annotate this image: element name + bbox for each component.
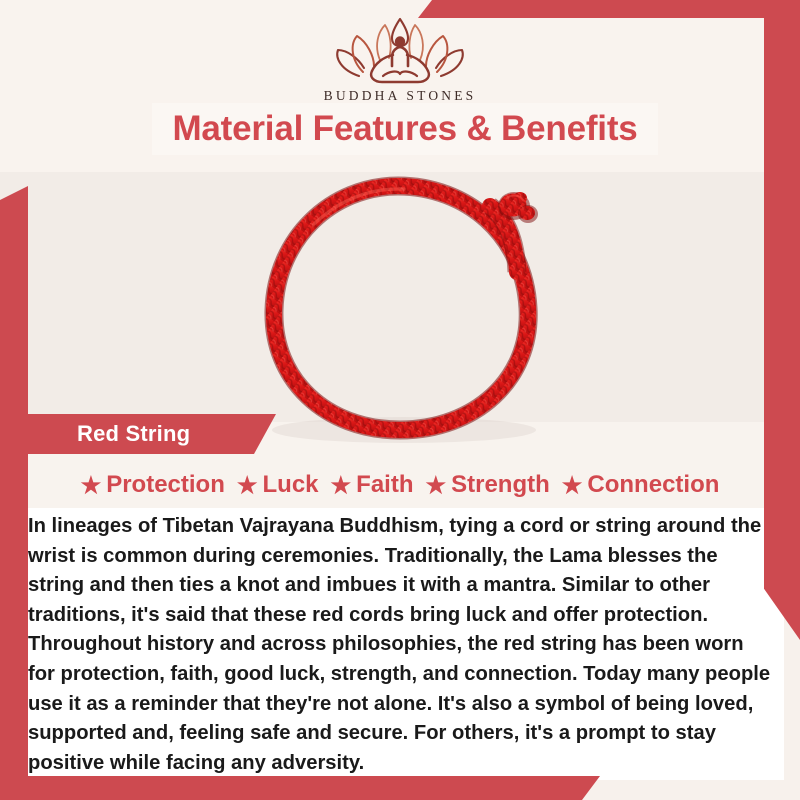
star-icon: ★ bbox=[331, 474, 352, 497]
product-label-ribbon: Red String bbox=[24, 414, 276, 454]
benefit-label: Strength bbox=[451, 471, 550, 499]
description-paragraph: In lineages of Tibetan Vajrayana Buddhis… bbox=[28, 512, 774, 778]
benefit-label: Connection bbox=[587, 471, 719, 499]
benefit-item-protection: ★ Protection bbox=[81, 471, 225, 499]
product-label-text: Red String bbox=[77, 421, 190, 447]
lotus-meditation-figure-icon bbox=[325, 14, 475, 86]
brand-logo: BUDDHA STONES bbox=[0, 14, 800, 104]
benefit-item-faith: ★ Faith bbox=[331, 471, 414, 499]
poster-canvas: BUDDHA STONES Material Features & Benefi… bbox=[0, 0, 800, 800]
brand-name: BUDDHA STONES bbox=[324, 88, 477, 104]
product-image-red-string-bracelet bbox=[228, 168, 576, 456]
frame-stripe-left bbox=[0, 186, 28, 800]
frame-stripe-bottom bbox=[0, 776, 600, 800]
star-icon: ★ bbox=[562, 474, 583, 497]
star-icon: ★ bbox=[237, 474, 258, 497]
benefit-item-luck: ★ Luck bbox=[237, 471, 319, 499]
benefit-item-connection: ★ Connection bbox=[562, 471, 720, 499]
title-banner: Material Features & Benefits bbox=[152, 103, 658, 155]
page-title: Material Features & Benefits bbox=[172, 109, 637, 149]
star-icon: ★ bbox=[81, 474, 102, 497]
star-icon: ★ bbox=[425, 474, 446, 497]
benefit-label: Protection bbox=[106, 471, 225, 499]
benefit-label: Luck bbox=[263, 471, 319, 499]
benefit-label: Faith bbox=[356, 471, 413, 499]
benefits-row: ★ Protection ★ Luck ★ Faith ★ Strength ★… bbox=[28, 466, 772, 504]
benefit-item-strength: ★ Strength bbox=[425, 471, 549, 499]
